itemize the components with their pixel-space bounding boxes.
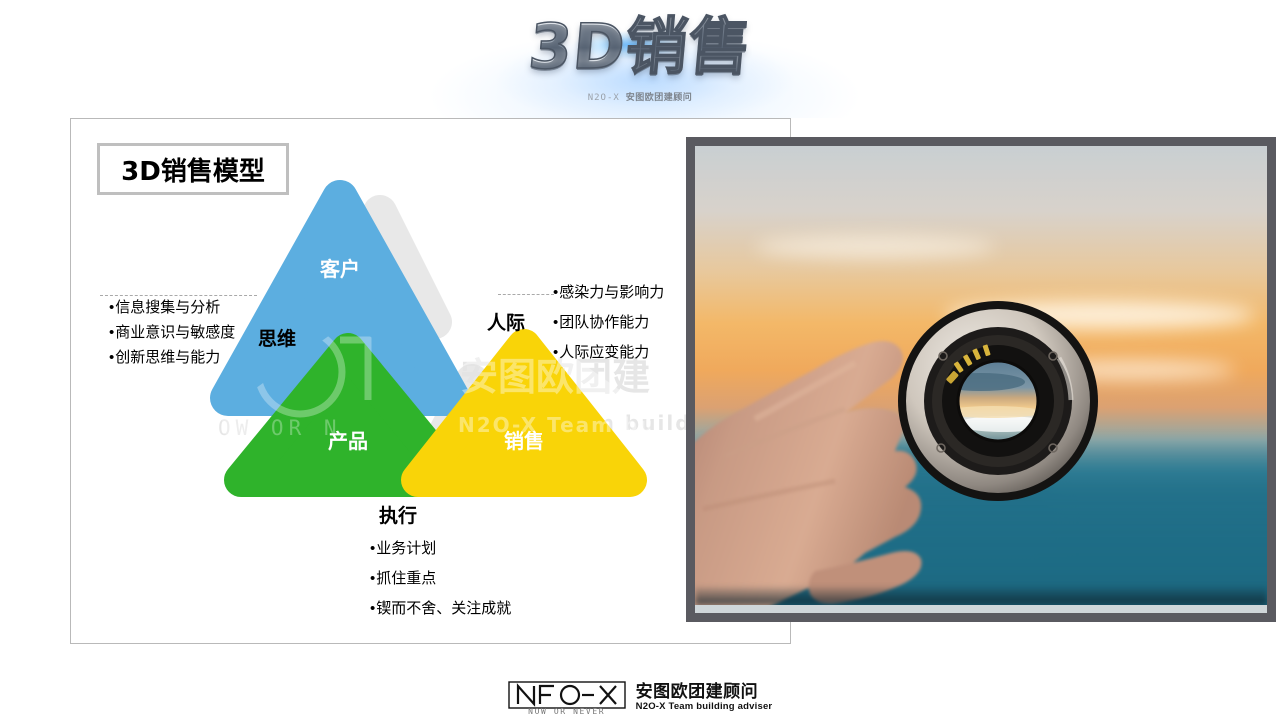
footer-company-cn: 安图欧团建顾问 [636, 683, 773, 703]
photo-camera-lens [893, 296, 1103, 506]
dimension-label-interpersonal: 人际 [487, 308, 525, 335]
header-title: 3D销售 [526, 14, 754, 79]
bullet-marker: • [370, 540, 375, 557]
bullet-list-execution: •业务计划 •抓住重点 •锲而不舍、关注成就 [370, 541, 511, 631]
header-sub-logo: N2O-X [588, 93, 620, 103]
node-customer-label: 客户 [319, 257, 360, 281]
dashed-connector-left [100, 295, 257, 296]
bullet-text: 商业意识与敏感度 [115, 324, 235, 341]
bullet-list-interpersonal: •感染力与影响力 •团队协作能力 •人际应变能力 [553, 285, 664, 375]
bullet-list-thinking: •信息搜集与分析 •商业意识与敏感度 •创新思维与能力 [109, 300, 235, 375]
header-subtitle: N2O-X安图欧团建顾问 [0, 90, 1280, 103]
bullet-text: 创新思维与能力 [115, 349, 220, 366]
bullet-marker: • [109, 349, 114, 366]
brand-tagline: NOW OR NEVER [508, 707, 626, 716]
list-item: •信息搜集与分析 [109, 300, 235, 315]
node-product-label: 产品 [328, 429, 368, 453]
bullet-marker: • [553, 344, 558, 361]
brand-logo-icon: NOW OR NEVER [508, 681, 626, 715]
list-item: •人际应变能力 [553, 345, 664, 360]
list-item: •创新思维与能力 [109, 350, 235, 365]
bullet-marker: • [370, 600, 375, 617]
list-item: •感染力与影响力 [553, 285, 664, 300]
dimension-label-execution: 执行 [379, 501, 417, 528]
list-item: •锲而不舍、关注成就 [370, 601, 511, 616]
photo-frame [686, 137, 1276, 622]
photo-camera-lens-sunset [695, 146, 1267, 613]
header-banner: 3D销售 N2O-X安图欧团建顾问 [0, 0, 1280, 118]
bullet-marker: • [370, 570, 375, 587]
list-item: •商业意识与敏感度 [109, 325, 235, 340]
photo-bottom-shade [695, 587, 1267, 605]
bullet-text: 团队协作能力 [559, 314, 649, 331]
svg-text:OW OR N: OW OR N [218, 416, 342, 440]
footer-company: 安图欧团建顾问 N2O-X Team building adviser [636, 683, 773, 713]
bullet-marker: • [553, 284, 558, 301]
bullet-text: 感染力与影响力 [559, 284, 664, 301]
list-item: •抓住重点 [370, 571, 511, 586]
bullet-marker: • [553, 314, 558, 331]
bullet-text: 业务计划 [376, 540, 436, 557]
bullet-text: 信息搜集与分析 [115, 299, 220, 316]
bullet-text: 锲而不舍、关注成就 [376, 600, 511, 617]
footer-company-en: N2O-X Team building adviser [636, 702, 773, 713]
header-title-wrapper: 3D销售 [0, 14, 1280, 79]
list-item: •团队协作能力 [553, 315, 664, 330]
header-sub-company: 安图欧团建顾问 [626, 92, 693, 102]
node-sales-label: 销售 [504, 429, 544, 453]
list-item: •业务计划 [370, 541, 511, 556]
footer: NOW OR NEVER 安图欧团建顾问 N2O-X Team building… [0, 676, 1280, 720]
dimension-label-thinking: 思维 [258, 324, 296, 351]
bullet-text: 人际应变能力 [559, 344, 649, 361]
bullet-marker: • [109, 324, 114, 341]
bullet-marker: • [109, 299, 114, 316]
dashed-connector-right [498, 294, 554, 295]
photo-bottom-strip [695, 605, 1267, 613]
bullet-text: 抓住重点 [376, 570, 436, 587]
